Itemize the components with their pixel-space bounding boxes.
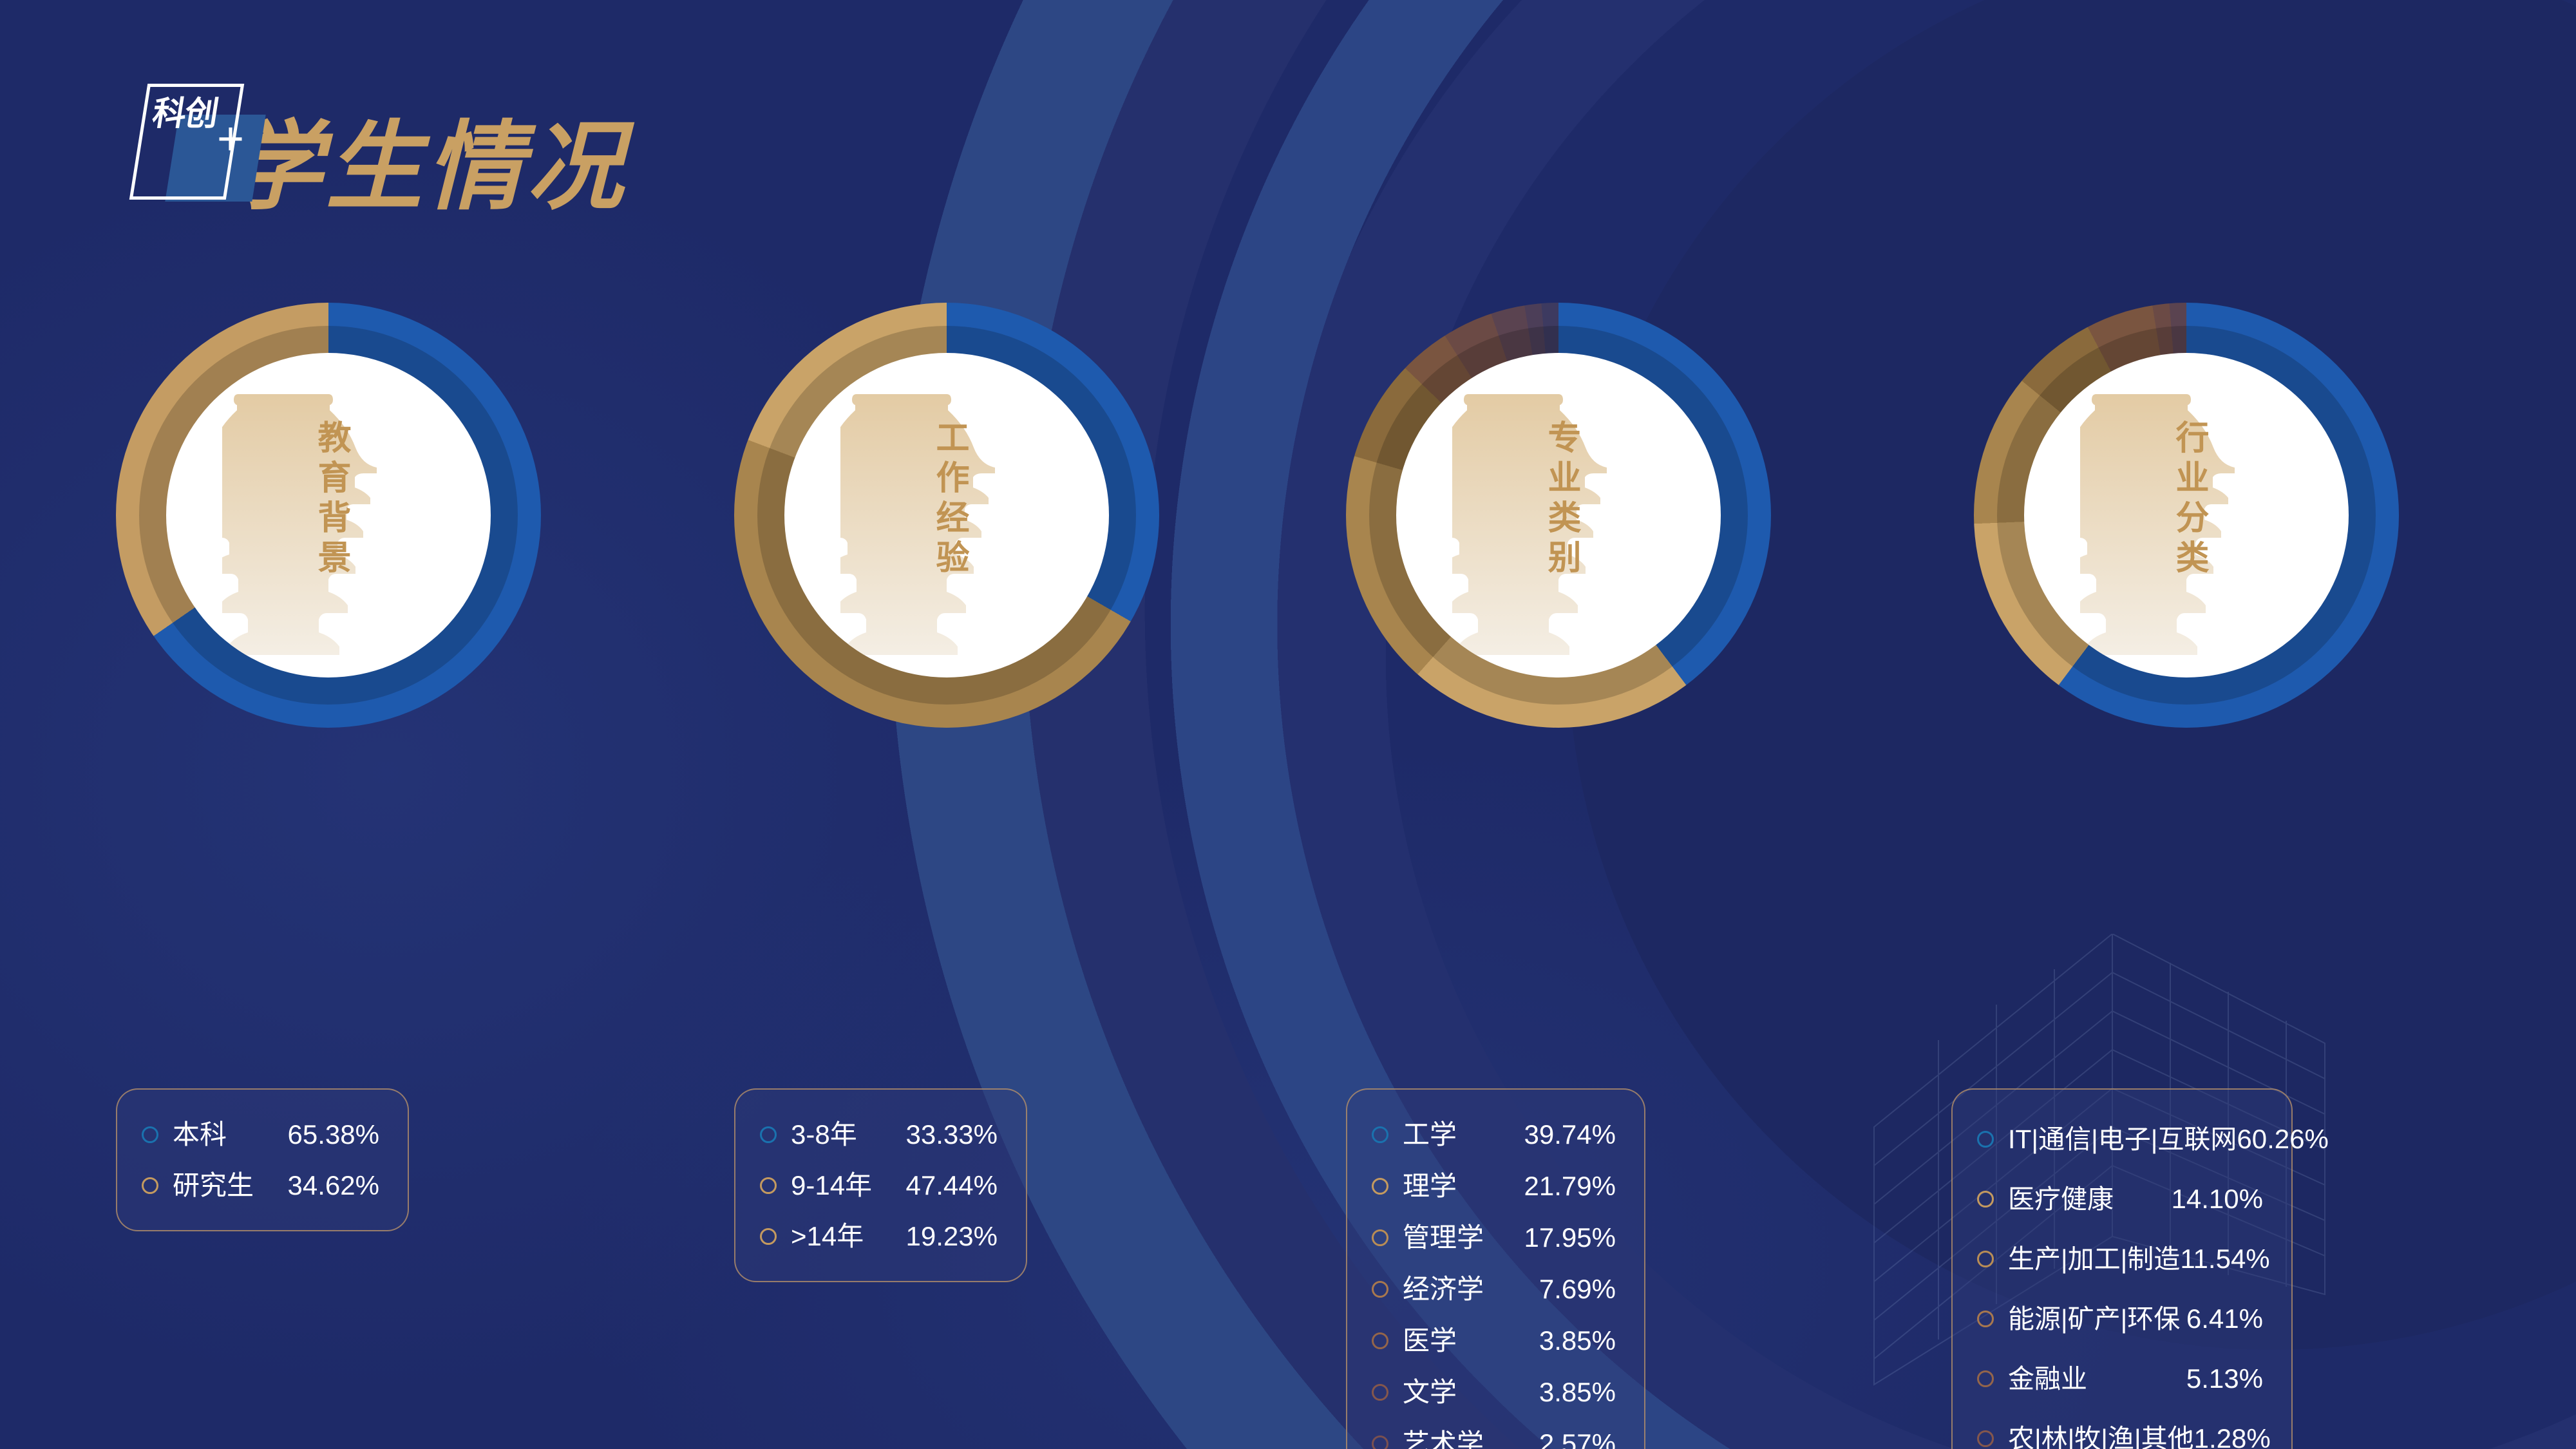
legend-value: 14.10% xyxy=(2172,1186,2263,1213)
legend-row[interactable]: 理学21.79% xyxy=(1372,1160,1616,1212)
legend-row[interactable]: 医疗健康14.10% xyxy=(1977,1169,2263,1229)
legend-marker-icon xyxy=(142,1126,158,1143)
donut-center-label: 工作经验 xyxy=(923,420,970,580)
charts-container: 教育背景本科65.38%研究生34.62%工作经验3-8年33.33%9-14年… xyxy=(0,0,2576,1449)
legend-row[interactable]: >14年19.23% xyxy=(760,1211,998,1262)
legend-marker-icon xyxy=(1372,1384,1388,1401)
legend-label: 管理学 xyxy=(1403,1224,1524,1251)
legend-row[interactable]: 工学39.74% xyxy=(1372,1109,1616,1160)
legend-label: IT|通信|电子|互联网 xyxy=(2008,1126,2237,1153)
legend-marker-icon xyxy=(1372,1229,1388,1246)
legend-marker-icon xyxy=(1372,1178,1388,1195)
legend-card-1: 3-8年33.33%9-14年47.44%>14年19.23% xyxy=(734,1088,1027,1282)
legend-value: 34.62% xyxy=(288,1172,379,1199)
legend-row[interactable]: 经济学7.69% xyxy=(1372,1264,1616,1315)
legend-value: 7.69% xyxy=(1539,1276,1616,1303)
legend-label: 农|林|牧|渔|其他 xyxy=(2008,1425,2194,1449)
legend-marker-icon xyxy=(760,1126,777,1143)
legend-value: 2.57% xyxy=(1539,1430,1616,1449)
slide-root: 科创 + 学生情况 教育背景本科65.38%研究生34.62%工作经验3-8年3… xyxy=(0,0,2576,1449)
legend-label: 9-14年 xyxy=(791,1172,906,1199)
donut-chart-0[interactable]: 教育背景 xyxy=(116,303,541,728)
legend-value: 33.33% xyxy=(906,1121,998,1148)
legend-value: 3.85% xyxy=(1539,1327,1616,1354)
legend-value: 5.13% xyxy=(2186,1365,2263,1392)
legend-card-0: 本科65.38%研究生34.62% xyxy=(116,1088,409,1231)
donut-center-label: 行业分类 xyxy=(2163,420,2210,580)
chart-column-1: 工作经验3-8年33.33%9-14年47.44%>14年19.23% xyxy=(734,303,1185,728)
legend-value: 11.54% xyxy=(2180,1245,2269,1273)
donut-chart-3[interactable]: 行业分类 xyxy=(1974,303,2399,728)
legend-value: 19.23% xyxy=(906,1223,998,1250)
legend-label: 金融业 xyxy=(2008,1365,2186,1392)
legend-label: 研究生 xyxy=(173,1172,288,1199)
legend-value: 17.95% xyxy=(1524,1224,1616,1251)
legend-marker-icon xyxy=(760,1228,777,1245)
legend-value: 1.28% xyxy=(2194,1425,2271,1449)
chart-column-3: 行业分类IT|通信|电子|互联网60.26%医疗健康14.10%生产|加工|制造… xyxy=(1951,303,2467,728)
legend-row[interactable]: 本科65.38% xyxy=(142,1109,379,1160)
legend-row[interactable]: 医学3.85% xyxy=(1372,1315,1616,1367)
donut-center: 行业分类 xyxy=(2024,353,2349,677)
legend-marker-icon xyxy=(1977,1430,1994,1447)
legend-value: 65.38% xyxy=(288,1121,379,1148)
donut-chart-1[interactable]: 工作经验 xyxy=(734,303,1159,728)
legend-label: 医学 xyxy=(1403,1327,1539,1354)
legend-value: 60.26% xyxy=(2237,1126,2328,1153)
legend-value: 47.44% xyxy=(906,1172,998,1199)
legend-row[interactable]: 艺术学2.57% xyxy=(1372,1418,1616,1449)
legend-row[interactable]: 生产|加工|制造11.54% xyxy=(1977,1229,2263,1289)
legend-label: 能源|矿产|环保 xyxy=(2008,1305,2186,1332)
legend-marker-icon xyxy=(1372,1281,1388,1298)
legend-label: 理学 xyxy=(1403,1173,1524,1200)
legend-marker-icon xyxy=(1977,1370,1994,1387)
legend-row[interactable]: 管理学17.95% xyxy=(1372,1212,1616,1264)
legend-row[interactable]: 研究生34.62% xyxy=(142,1160,379,1211)
legend-card-2: 工学39.74%理学21.79%管理学17.95%经济学7.69%医学3.85%… xyxy=(1346,1088,1645,1449)
legend-value: 21.79% xyxy=(1524,1173,1616,1200)
legend-value: 39.74% xyxy=(1524,1121,1616,1148)
legend-label: 本科 xyxy=(173,1121,288,1148)
legend-row[interactable]: 农|林|牧|渔|其他1.28% xyxy=(1977,1408,2263,1449)
donut-center-label: 专业类别 xyxy=(1535,420,1582,580)
donut-chart-2[interactable]: 专业类别 xyxy=(1346,303,1771,728)
legend-row[interactable]: 3-8年33.33% xyxy=(760,1109,998,1160)
legend-marker-icon xyxy=(1372,1126,1388,1143)
legend-row[interactable]: 文学3.85% xyxy=(1372,1367,1616,1418)
legend-row[interactable]: 9-14年47.44% xyxy=(760,1160,998,1211)
legend-marker-icon xyxy=(1977,1251,1994,1267)
legend-marker-icon xyxy=(1977,1311,1994,1327)
legend-label: 文学 xyxy=(1403,1379,1539,1406)
legend-label: 生产|加工|制造 xyxy=(2008,1245,2180,1273)
legend-marker-icon xyxy=(1977,1131,1994,1148)
legend-marker-icon xyxy=(760,1177,777,1194)
legend-label: 工学 xyxy=(1403,1121,1524,1148)
legend-row[interactable]: 能源|矿产|环保6.41% xyxy=(1977,1289,2263,1349)
legend-marker-icon xyxy=(1372,1435,1388,1449)
donut-center: 教育背景 xyxy=(166,353,491,677)
legend-label: 3-8年 xyxy=(791,1121,906,1148)
chart-column-0: 教育背景本科65.38%研究生34.62% xyxy=(116,303,567,728)
legend-row[interactable]: IT|通信|电子|互联网60.26% xyxy=(1977,1109,2263,1169)
donut-center: 工作经验 xyxy=(784,353,1109,677)
legend-value: 3.85% xyxy=(1539,1379,1616,1406)
chart-column-2: 专业类别工学39.74%理学21.79%管理学17.95%经济学7.69%医学3… xyxy=(1346,303,1797,728)
legend-marker-icon xyxy=(1372,1332,1388,1349)
legend-label: >14年 xyxy=(791,1223,906,1250)
legend-value: 6.41% xyxy=(2186,1305,2263,1332)
legend-card-3: IT|通信|电子|互联网60.26%医疗健康14.10%生产|加工|制造11.5… xyxy=(1951,1088,2293,1449)
legend-marker-icon xyxy=(142,1177,158,1194)
donut-center-label: 教育背景 xyxy=(305,420,352,580)
legend-label: 医疗健康 xyxy=(2008,1186,2172,1213)
legend-label: 经济学 xyxy=(1403,1276,1539,1303)
legend-marker-icon xyxy=(1977,1191,1994,1207)
legend-row[interactable]: 金融业5.13% xyxy=(1977,1349,2263,1408)
donut-center: 专业类别 xyxy=(1396,353,1721,677)
legend-label: 艺术学 xyxy=(1403,1430,1539,1449)
